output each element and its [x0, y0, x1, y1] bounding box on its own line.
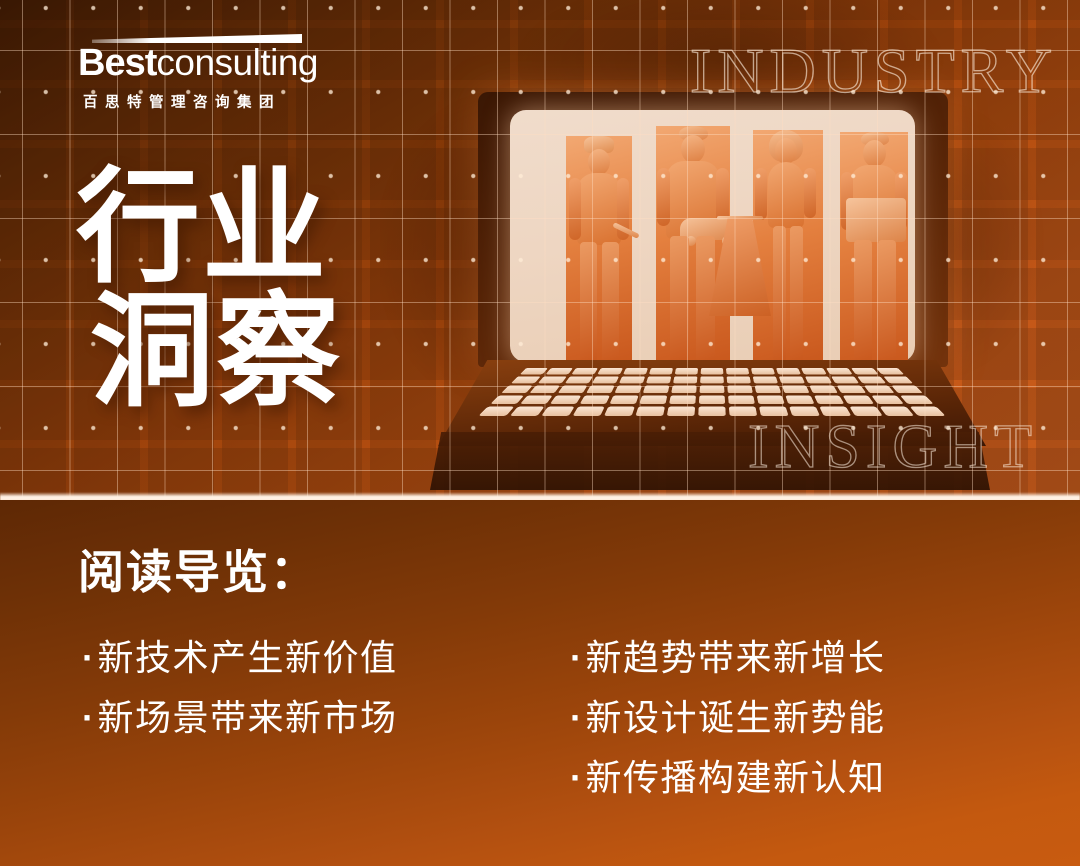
- title-line-1: 行业: [76, 168, 342, 288]
- brand-logo: Bestconsulting 百思特管理咨询集团: [78, 34, 308, 112]
- bullet-dot-icon: ·: [82, 697, 96, 738]
- logo-best-text: Best: [78, 42, 156, 84]
- figure-construction-worker: [566, 136, 632, 362]
- figure-man-with-box: [840, 132, 908, 362]
- list-item-label: 新场景带来新市场: [98, 697, 398, 738]
- list-item: ·新传播构建新认知: [570, 760, 886, 796]
- list-item-label: 新设计诞生新势能: [586, 697, 886, 738]
- bullet-dot-icon: ·: [570, 637, 584, 678]
- hero-section: INDUSTRY INSIGHT Bestconsulting 百思特管理咨询集…: [0, 0, 1080, 500]
- laptop-keyboard: [478, 368, 945, 416]
- outline-text-industry: INDUSTRY: [690, 34, 1058, 108]
- list-item-label: 新技术产生新价值: [98, 637, 398, 678]
- list-item: ·新场景带来新市场: [82, 700, 398, 736]
- poster-title: 行业 洞察: [76, 168, 342, 413]
- guide-column-left: ·新技术产生新价值 ·新场景带来新市场: [82, 640, 398, 760]
- bullet-dot-icon: ·: [82, 637, 96, 678]
- bullet-dot-icon: ·: [570, 757, 584, 798]
- guide-column-right: ·新趋势带来新增长 ·新设计诞生新势能 ·新传播构建新认知: [570, 640, 886, 820]
- reading-guide-section: 阅读导览： ·新技术产生新价值 ·新场景带来新市场 ·新趋势带来新增长 ·新设计…: [0, 500, 1080, 866]
- prop-box: [846, 198, 906, 242]
- reading-guide-heading: 阅读导览：: [78, 536, 318, 602]
- title-line-2: 洞察: [90, 292, 342, 412]
- logo-chinese-name: 百思特管理咨询集团: [83, 91, 308, 112]
- list-item: ·新设计诞生新势能: [570, 700, 886, 736]
- logo-wordmark: Bestconsulting: [78, 44, 308, 82]
- logo-consulting-text: consulting: [156, 42, 318, 83]
- outline-text-insight: INSIGHT: [748, 412, 1038, 483]
- list-item-label: 新趋势带来新增长: [586, 637, 886, 678]
- list-item: ·新趋势带来新增长: [570, 640, 886, 676]
- figure-woman-with-dress: [753, 130, 823, 362]
- laptop-screen: [510, 110, 915, 362]
- figure-man-with-car: [656, 126, 730, 362]
- list-item: ·新技术产生新价值: [82, 640, 398, 676]
- logo-dot-icon: [224, 36, 228, 40]
- list-item-label: 新传播构建新认知: [586, 757, 886, 798]
- bullet-dot-icon: ·: [570, 697, 584, 738]
- logo-swoosh-bar: [92, 34, 302, 43]
- poster-canvas: INDUSTRY INSIGHT Bestconsulting 百思特管理咨询集…: [0, 0, 1080, 866]
